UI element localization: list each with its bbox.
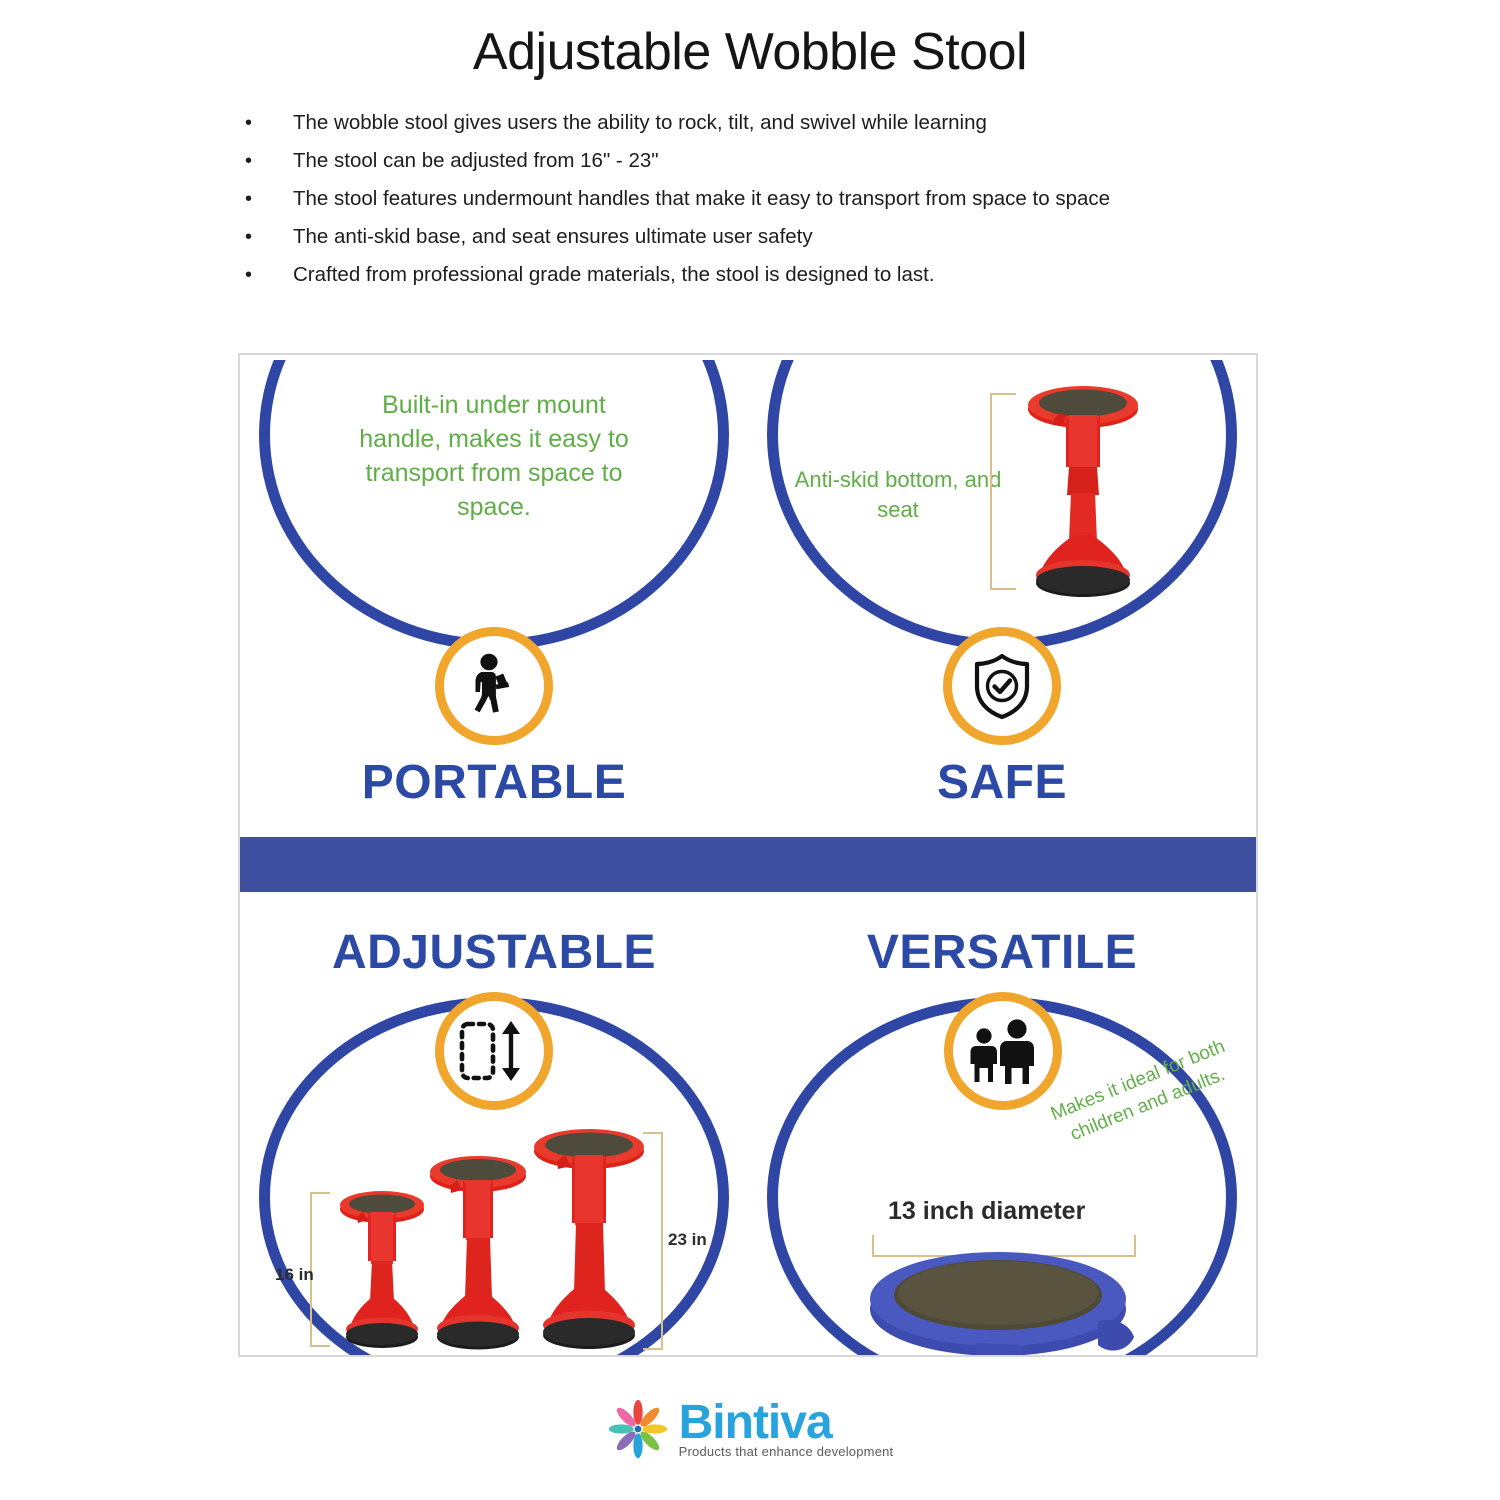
list-item: • The stool can be adjusted from 16" - 2… <box>245 146 1255 176</box>
red-stool-small-image <box>332 1189 432 1354</box>
list-item: • The stool features undermount handles … <box>245 184 1255 214</box>
list-item-text: The anti-skid base, and seat ensures ult… <box>293 222 1255 252</box>
list-item: • The anti-skid base, and seat ensures u… <box>245 222 1255 252</box>
list-item: • Crafted from professional grade materi… <box>245 260 1255 290</box>
bullet-marker-icon: • <box>245 260 293 290</box>
panel-adjustable: ADJUSTABLE 16 in 23 in <box>240 897 748 1357</box>
page-title: Adjustable Wobble Stool <box>0 22 1500 82</box>
red-stool-image <box>1016 375 1151 603</box>
panel-versatile: VERSATILE Makes it ideal for both childr… <box>748 897 1256 1357</box>
portable-note: Built-in under mount handle, makes it ea… <box>344 388 644 524</box>
brand-logo: Bintiva Products that enhance developmen… <box>0 1398 1500 1460</box>
list-item-text: The stool can be adjusted from 16" - 23" <box>293 146 1255 176</box>
panel-portable: Built-in under mount handle, makes it ea… <box>240 355 748 830</box>
safe-note: Anti-skid bottom, and seat <box>778 465 1018 525</box>
pinwheel-logo-icon <box>607 1398 669 1460</box>
bullet-marker-icon: • <box>245 146 293 176</box>
versatile-diameter-label: 13 inch diameter <box>888 1197 1085 1226</box>
list-item-text: Crafted from professional grade material… <box>293 260 1255 290</box>
list-item-text: The wobble stool gives users the ability… <box>293 108 1255 138</box>
red-stool-medium-image <box>422 1152 534 1354</box>
versatile-label: VERSATILE <box>748 925 1256 980</box>
feature-infographic: Built-in under mount handle, makes it ea… <box>238 353 1258 1357</box>
bullet-marker-icon: • <box>245 108 293 138</box>
brand-text: Bintiva Products that enhance developmen… <box>679 1398 894 1460</box>
panel-safe: Anti-skid bottom, and seat SAFE <box>748 355 1256 830</box>
resize-height-icon <box>458 1018 530 1084</box>
list-item: • The wobble stool gives users the abili… <box>245 108 1255 138</box>
shield-check-icon <box>966 650 1038 722</box>
bullet-marker-icon: • <box>245 184 293 214</box>
safe-measure-bracket <box>990 393 1016 590</box>
versatile-badge <box>944 992 1062 1110</box>
brand-name: Bintiva <box>679 1398 832 1448</box>
adjustable-max-label: 23 in <box>668 1230 707 1250</box>
brand-tagline: Products that enhance development <box>679 1444 894 1460</box>
blue-stool-seat-image <box>866 1247 1152 1357</box>
portable-badge <box>435 627 553 745</box>
bullet-marker-icon: • <box>245 222 293 252</box>
portable-label: PORTABLE <box>240 755 748 810</box>
list-item-text: The stool features undermount handles th… <box>293 184 1255 214</box>
person-carrying-box-icon <box>457 649 531 723</box>
adjustable-label: ADJUSTABLE <box>240 925 748 980</box>
feature-bullet-list: • The wobble stool gives users the abili… <box>245 108 1255 298</box>
adjustable-min-label: 16 in <box>275 1265 314 1285</box>
divider-band <box>240 837 1256 892</box>
adult-and-child-icon <box>966 1016 1040 1086</box>
safe-badge <box>943 627 1061 745</box>
red-stool-large-image <box>526 1125 652 1355</box>
safe-label: SAFE <box>748 755 1256 810</box>
adjustable-badge <box>435 992 553 1110</box>
